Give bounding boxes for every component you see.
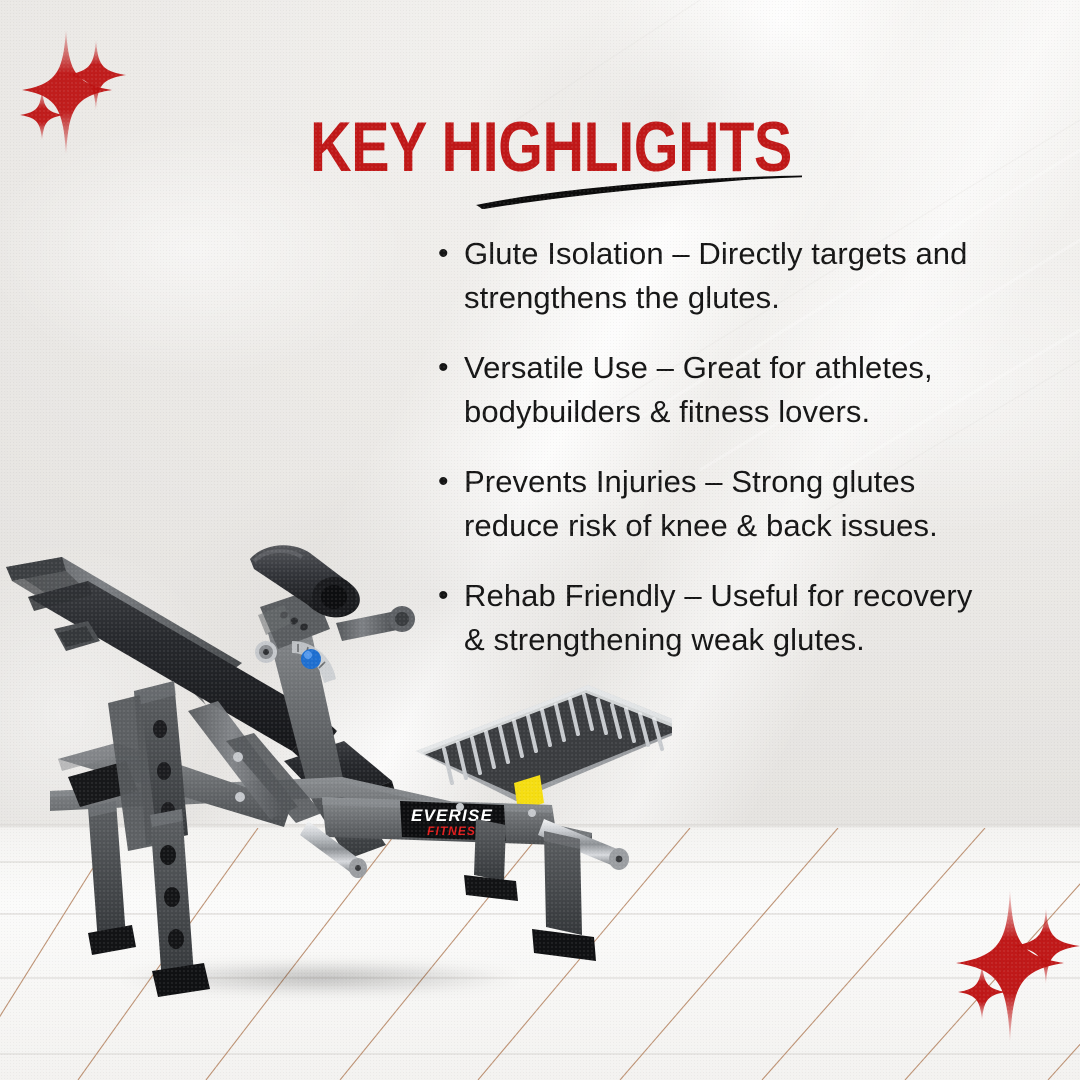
list-item-text: Versatile Use – Great for athletes, body…: [464, 346, 998, 434]
leg-rear-left: [150, 809, 210, 997]
bullet-dot-icon: •: [438, 232, 448, 276]
poster-canvas: KEY HIGHLIGHTS • Glute Isolation – Direc…: [0, 0, 1080, 1080]
blue-adjust-knob-icon: [301, 649, 321, 669]
list-item-text: Glute Isolation – Directly targets and s…: [464, 232, 998, 320]
list-item: • Prevents Injuries – Strong glutes redu…: [438, 460, 998, 548]
bullet-dot-icon: •: [438, 460, 448, 504]
footplate-platform: [416, 685, 672, 801]
list-item: • Glute Isolation – Directly targets and…: [438, 232, 998, 320]
title-underline-swoosh: [470, 172, 810, 212]
list-item: • Versatile Use – Great for athletes, bo…: [438, 346, 998, 434]
pivot-hub: [255, 641, 277, 663]
list-item-text: Prevents Injuries – Strong glutes reduce…: [464, 460, 998, 548]
product-image-glute-machine: EVERISE FITNESS: [0, 545, 672, 1055]
sparkle-star-cluster-bottom-right: [948, 886, 1080, 1046]
bullet-dot-icon: •: [438, 346, 448, 390]
sparkle-star-cluster-top-left: [14, 22, 144, 162]
